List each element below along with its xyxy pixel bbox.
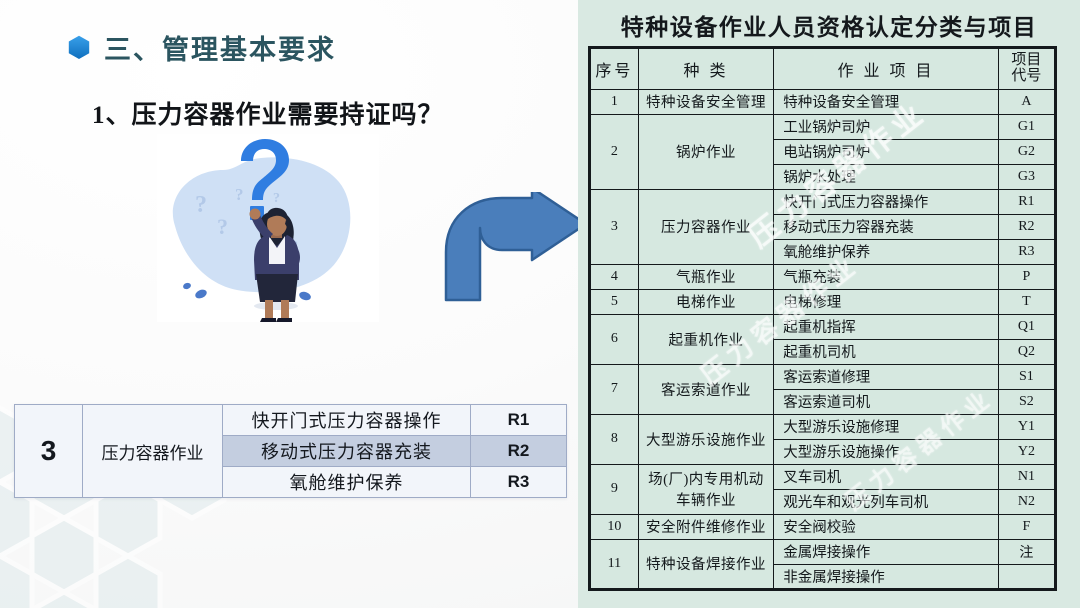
row-item: 金属焊接操作 xyxy=(774,539,999,564)
woman-figure xyxy=(250,208,301,322)
row-item: 特种设备安全管理 xyxy=(774,89,999,114)
row-code: G3 xyxy=(998,164,1055,189)
row-code: A xyxy=(998,89,1055,114)
row-number: 6 xyxy=(590,314,639,364)
row-code xyxy=(998,564,1055,589)
question-illustration: ? ? ? ? ? xyxy=(157,134,379,322)
header-category: 种 类 xyxy=(638,48,774,90)
header-no: 序号 xyxy=(590,48,639,90)
row-code: R1 xyxy=(471,405,567,436)
row-category: 场(厂)内专用机动车辆作业 xyxy=(638,464,774,514)
row-category: 锅炉作业 xyxy=(638,114,774,189)
table-row: 11特种设备焊接作业金属焊接操作注 xyxy=(590,539,1056,564)
row-item: 电梯修理 xyxy=(774,289,999,314)
table-row: 3 压力容器作业 快开门式压力容器操作 R1 xyxy=(15,405,567,436)
row-code: N2 xyxy=(998,489,1055,514)
row-item: 安全阀校验 xyxy=(774,514,999,539)
hexagon-bullet-icon xyxy=(68,35,90,60)
row-code: Q2 xyxy=(998,339,1055,364)
table-row: 3压力容器作业快开门式压力容器操作R1 xyxy=(590,189,1056,214)
table-row: 2锅炉作业工业锅炉司炉G1 xyxy=(590,114,1056,139)
header-code-line2: 代号 xyxy=(999,69,1054,85)
row-item: 工业锅炉司炉 xyxy=(774,114,999,139)
row-code: T xyxy=(998,289,1055,314)
table-row: 5电梯作业电梯修理T xyxy=(590,289,1056,314)
row-code: Y1 xyxy=(998,414,1055,439)
row-number: 10 xyxy=(590,514,639,539)
row-code: N1 xyxy=(998,464,1055,489)
svg-text:?: ? xyxy=(217,214,228,239)
svg-text:?: ? xyxy=(195,192,207,218)
row-item: 大型游乐设施修理 xyxy=(774,414,999,439)
row-category: 电梯作业 xyxy=(638,289,774,314)
row-item: 客运索道修理 xyxy=(774,364,999,389)
table-row: 7客运索道作业客运索道修理S1 xyxy=(590,364,1056,389)
table-row: 1特种设备安全管理特种设备安全管理A xyxy=(590,89,1056,114)
slide-canvas: 三、管理基本要求 1、压力容器作业需要持证吗？ ? ? ? ? ? xyxy=(0,0,1080,608)
row-code: R3 xyxy=(471,467,567,498)
section-heading: 三、管理基本要求 xyxy=(68,28,336,67)
row-category: 气瓶作业 xyxy=(638,264,774,289)
row-code: P xyxy=(998,264,1055,289)
illustration-svg: ? ? ? ? ? xyxy=(157,134,379,322)
row-code: S2 xyxy=(998,389,1055,414)
pressure-vessel-excerpt-table: 3 压力容器作业 快开门式压力容器操作 R1 移动式压力容器充装 R2 氧舱维护… xyxy=(14,404,567,498)
row-item: 氧舱维护保养 xyxy=(774,239,999,264)
row-item: 气瓶充装 xyxy=(774,264,999,289)
row-item: 非金属焊接操作 xyxy=(774,564,999,589)
table-header-row: 序号 种 类 作 业 项 目 项目 代号 xyxy=(590,48,1056,90)
table-row: 8大型游乐设施作业大型游乐设施修理Y1 xyxy=(590,414,1056,439)
row-category: 客运索道作业 xyxy=(638,364,774,414)
row-item: 客运索道司机 xyxy=(774,389,999,414)
table-row: 6起重机作业起重机指挥Q1 xyxy=(590,314,1056,339)
row-category: 起重机作业 xyxy=(638,314,774,364)
row-item: 电站锅炉司炉 xyxy=(774,139,999,164)
row-item: 氧舱维护保养 xyxy=(223,467,471,498)
row-number: 3 xyxy=(15,405,83,498)
table-row: 9场(厂)内专用机动车辆作业叉车司机N1 xyxy=(590,464,1056,489)
svg-text:?: ? xyxy=(273,191,280,206)
row-item: 观光车和观光列车司机 xyxy=(774,489,999,514)
row-code: Q1 xyxy=(998,314,1055,339)
row-item: 快开门式压力容器操作 xyxy=(223,405,471,436)
qualification-table: 序号 种 类 作 业 项 目 项目 代号 1特种设备安全管理特种设备安全管理A2… xyxy=(588,46,1057,591)
row-code: R3 xyxy=(998,239,1055,264)
row-number: 1 xyxy=(590,89,639,114)
row-code: R2 xyxy=(471,436,567,467)
row-item: 移动式压力容器充装 xyxy=(774,214,999,239)
row-item: 起重机指挥 xyxy=(774,314,999,339)
header-code-line1: 项目 xyxy=(999,53,1054,69)
row-code: R1 xyxy=(998,189,1055,214)
row-number: 4 xyxy=(590,264,639,289)
table-row: 4气瓶作业气瓶充装P xyxy=(590,264,1056,289)
row-category: 特种设备安全管理 xyxy=(638,89,774,114)
row-item: 锅炉水处理 xyxy=(774,164,999,189)
row-code: R2 xyxy=(998,214,1055,239)
header-item: 作 业 项 目 xyxy=(774,48,999,90)
curved-arrow-icon xyxy=(440,192,590,304)
section-heading-label: 三、管理基本要求 xyxy=(104,28,336,67)
row-code: G2 xyxy=(998,139,1055,164)
qualification-table-panel: 特种设备作业人员资格认定分类与项目 序号 种 类 作 业 项 目 项目 代号 1… xyxy=(578,0,1080,608)
row-category: 特种设备焊接作业 xyxy=(638,539,774,589)
left-content-column: 三、管理基本要求 1、压力容器作业需要持证吗？ ? ? ? ? ? xyxy=(0,0,578,608)
header-code: 项目 代号 xyxy=(998,48,1055,90)
row-code: Y2 xyxy=(998,439,1055,464)
row-item: 起重机司机 xyxy=(774,339,999,364)
row-number: 5 xyxy=(590,289,639,314)
row-code: G1 xyxy=(998,114,1055,139)
row-number: 9 xyxy=(590,464,639,514)
row-code: F xyxy=(998,514,1055,539)
row-number: 2 xyxy=(590,114,639,189)
row-code: 注 xyxy=(998,539,1055,564)
table-row: 10安全附件维修作业安全阀校验F xyxy=(590,514,1056,539)
row-number: 7 xyxy=(590,364,639,414)
big-table-title: 特种设备作业人员资格认定分类与项目 xyxy=(578,8,1080,42)
row-code: S1 xyxy=(998,364,1055,389)
row-category: 大型游乐设施作业 xyxy=(638,414,774,464)
row-category: 压力容器作业 xyxy=(83,405,223,498)
question-line: 1、压力容器作业需要持证吗？ xyxy=(92,95,444,131)
row-item: 移动式压力容器充装 xyxy=(223,436,471,467)
row-number: 11 xyxy=(590,539,639,589)
row-item: 叉车司机 xyxy=(774,464,999,489)
row-item: 大型游乐设施操作 xyxy=(774,439,999,464)
svg-text:?: ? xyxy=(235,185,244,204)
row-category: 安全附件维修作业 xyxy=(638,514,774,539)
row-item: 快开门式压力容器操作 xyxy=(774,189,999,214)
row-number: 8 xyxy=(590,414,639,464)
row-category: 压力容器作业 xyxy=(638,189,774,264)
row-number: 3 xyxy=(590,189,639,264)
